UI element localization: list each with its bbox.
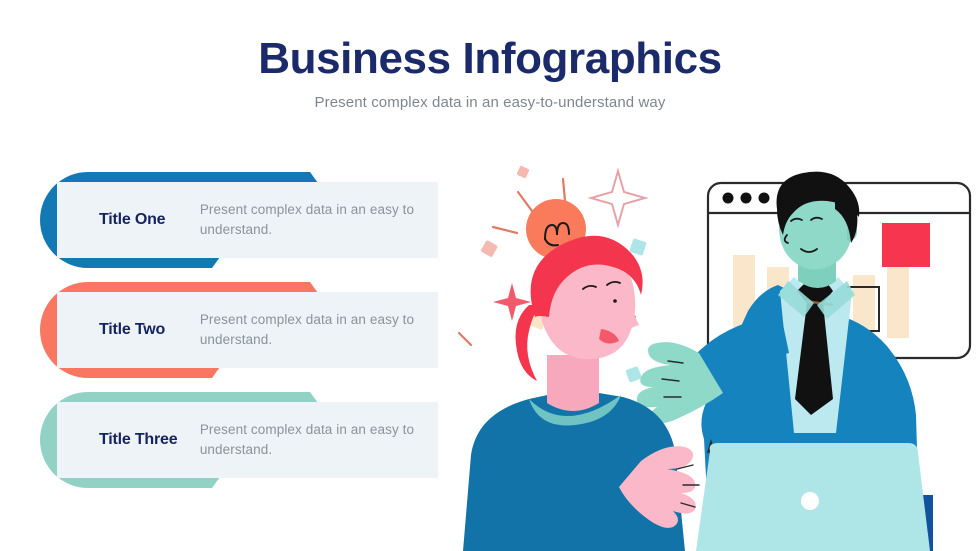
header: Business Infographics Present complex da… xyxy=(0,36,980,111)
list-item[interactable]: Title One Present complex data in an eas… xyxy=(40,172,460,268)
slide-canvas: Business Infographics Present complex da… xyxy=(0,0,980,551)
card-title: Title Three xyxy=(57,431,200,449)
card-description: Present complex data in an easy to under… xyxy=(200,200,438,239)
illustration xyxy=(455,165,980,551)
list-item[interactable]: Title Two Present complex data in an eas… xyxy=(40,282,460,378)
card-title: Title One xyxy=(57,211,200,229)
neck xyxy=(547,355,599,411)
card-panel: Title One Present complex data in an eas… xyxy=(57,182,438,258)
card-list: Title One Present complex data in an eas… xyxy=(40,172,460,502)
window-dots xyxy=(723,193,770,204)
page-title: Business Infographics xyxy=(0,36,980,82)
card-title: Title Two xyxy=(57,321,200,339)
red-square xyxy=(882,223,930,267)
list-item[interactable]: Title Three Present complex data in an e… xyxy=(40,392,460,488)
card-panel: Title Two Present complex data in an eas… xyxy=(57,292,438,368)
card-panel: Title Three Present complex data in an e… xyxy=(57,402,438,478)
page-subtitle: Present complex data in an easy-to-under… xyxy=(0,94,980,111)
card-description: Present complex data in an easy to under… xyxy=(200,310,438,349)
outline-star-icon xyxy=(591,171,645,225)
laptop xyxy=(696,439,930,551)
card-description: Present complex data in an easy to under… xyxy=(200,420,438,459)
